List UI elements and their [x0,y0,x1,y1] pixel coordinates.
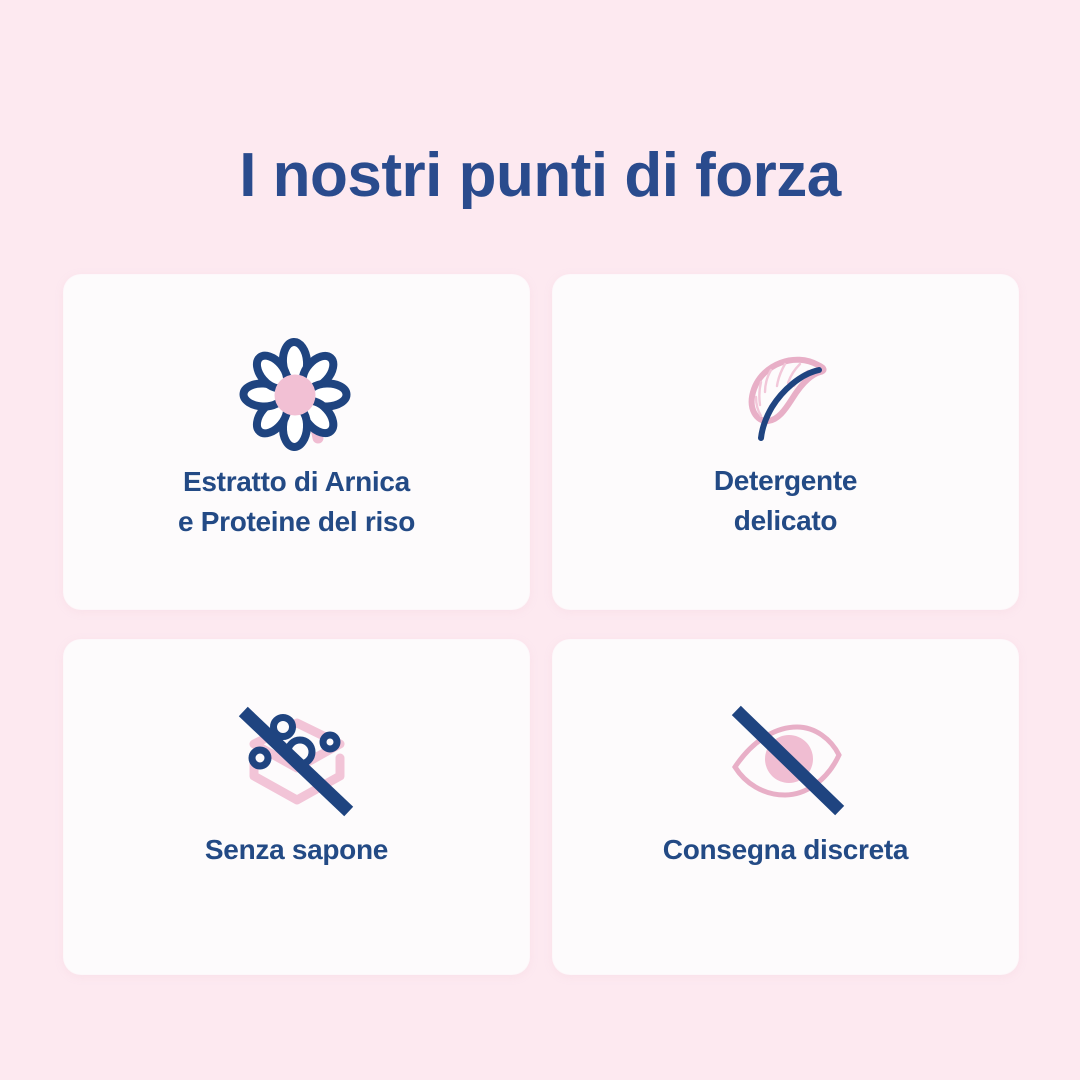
benefit-card-arnica[interactable]: Estratto di Arnica e Proteine del riso [64,275,529,609]
promo-page: I nostri punti di forza [0,0,1080,1080]
benefit-card-no-soap[interactable]: Senza sapone [64,640,529,974]
no-eye-icon [553,702,1018,824]
benefit-card-cleanser[interactable]: Detergente delicato [553,275,1018,609]
flower-icon [64,337,529,457]
benefit-card-label: Detergente delicato [553,461,1018,541]
benefit-card-label: Senza sapone [64,830,529,870]
benefit-card-discreet[interactable]: Consegna discreta [553,640,1018,974]
page-title: I nostri punti di forza [0,138,1080,214]
feather-icon [553,337,1018,457]
benefits-grid: Estratto di Arnica e Proteine del riso [64,275,1018,974]
benefit-card-label: Consegna discreta [553,830,1018,870]
no-soap-icon [64,702,529,824]
benefit-card-label: Estratto di Arnica e Proteine del riso [64,462,529,542]
